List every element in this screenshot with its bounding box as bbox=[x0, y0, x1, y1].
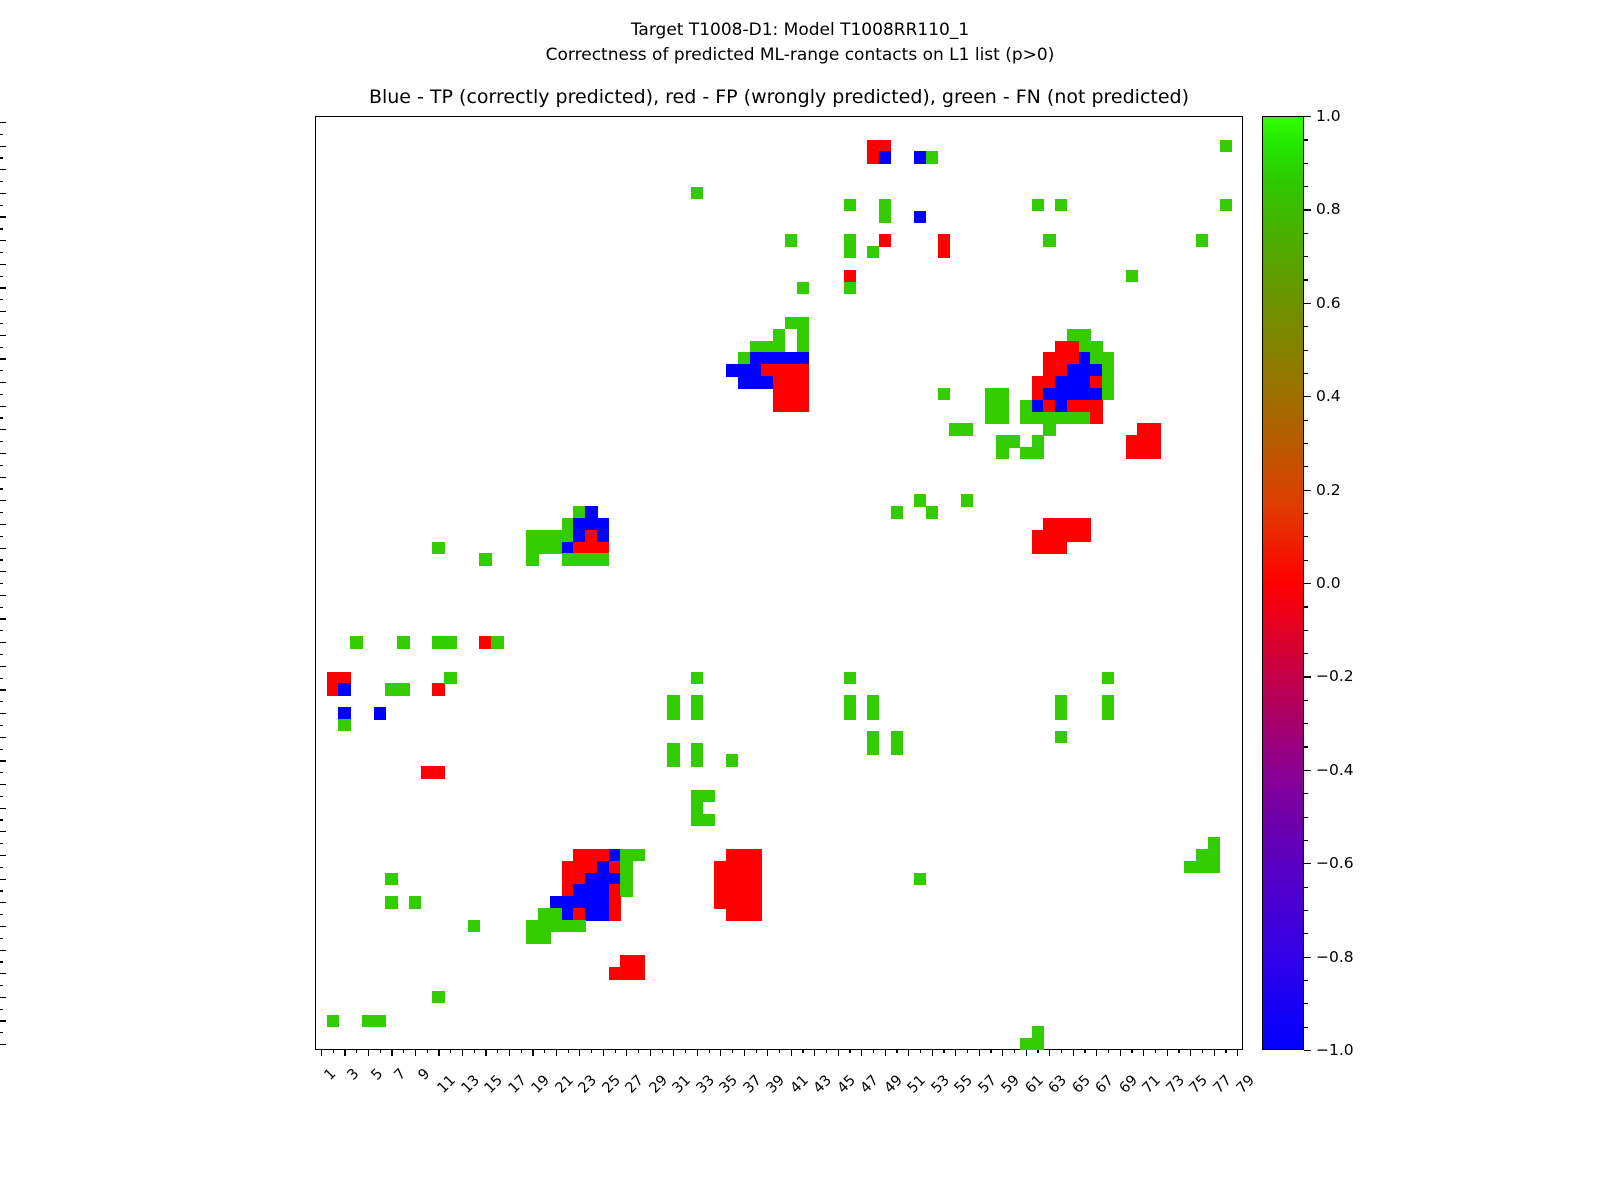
contact-cell bbox=[761, 341, 773, 353]
y-tick-mark bbox=[0, 370, 3, 371]
x-tick-mark bbox=[1049, 1050, 1050, 1056]
contact-cell bbox=[1055, 518, 1067, 530]
y-tick-mark bbox=[0, 583, 3, 584]
colorbar-minor-tick-mark bbox=[1304, 326, 1308, 327]
contact-cell bbox=[703, 814, 715, 826]
contact-cell bbox=[338, 707, 350, 719]
x-tick-label: 63 bbox=[1047, 1073, 1071, 1097]
y-tick-mark bbox=[0, 607, 3, 608]
contact-cell bbox=[1220, 140, 1232, 152]
contact-cell bbox=[573, 896, 585, 908]
x-tick-mark bbox=[1167, 1050, 1168, 1056]
colorbar-minor-tick-mark bbox=[1304, 420, 1308, 421]
contact-cell bbox=[573, 849, 585, 861]
y-tick-mark bbox=[0, 169, 6, 170]
x-tick-label: 33 bbox=[694, 1073, 718, 1097]
y-tick-mark bbox=[0, 713, 6, 714]
contact-cell bbox=[491, 636, 503, 648]
contact-cell bbox=[609, 967, 621, 979]
suptitle-line-1: Target T1008-D1: Model T1008RR110_1 bbox=[631, 20, 969, 40]
x-tick-label: 73 bbox=[1164, 1073, 1188, 1097]
contact-cell bbox=[961, 423, 973, 435]
contact-cell bbox=[609, 861, 621, 873]
contact-cell bbox=[879, 199, 891, 211]
y-tick-mark bbox=[0, 252, 3, 253]
contact-cell bbox=[726, 754, 738, 766]
contact-cell bbox=[891, 731, 903, 743]
colorbar-minor-tick-mark bbox=[1304, 1027, 1308, 1028]
y-tick-mark bbox=[0, 831, 6, 832]
contact-cell bbox=[914, 494, 926, 506]
x-tick-label: 43 bbox=[812, 1073, 836, 1097]
contact-cell bbox=[879, 211, 891, 223]
x-tick-label: 47 bbox=[859, 1073, 883, 1097]
x-tick-mark bbox=[802, 1050, 803, 1053]
contact-cell bbox=[327, 683, 339, 695]
x-tick-mark bbox=[1214, 1050, 1215, 1056]
x-tick-mark bbox=[497, 1050, 498, 1053]
x-tick-mark bbox=[509, 1050, 510, 1056]
contact-cell bbox=[620, 849, 632, 861]
contact-cell bbox=[1067, 530, 1079, 542]
contact-cell bbox=[1067, 518, 1079, 530]
contact-cell bbox=[620, 861, 632, 873]
y-tick-mark bbox=[0, 205, 3, 206]
contact-cell bbox=[432, 991, 444, 1003]
y-tick-mark bbox=[0, 630, 3, 631]
contact-cell bbox=[550, 896, 562, 908]
contact-cell bbox=[1079, 530, 1091, 542]
contact-cell bbox=[714, 896, 726, 908]
contact-cell bbox=[432, 636, 444, 648]
contact-cell bbox=[385, 683, 397, 695]
y-tick-mark bbox=[0, 276, 3, 277]
x-tick-label: 11 bbox=[436, 1073, 460, 1097]
contact-cell bbox=[526, 542, 538, 554]
colorbar-tick-label: −0.4 bbox=[1316, 762, 1354, 778]
x-tick-mark bbox=[885, 1050, 886, 1056]
colorbar-tick-mark bbox=[1304, 583, 1311, 584]
colorbar-minor-tick-mark bbox=[1304, 443, 1308, 444]
contact-cell bbox=[432, 683, 444, 695]
x-tick-mark bbox=[1037, 1050, 1038, 1053]
x-tick-mark bbox=[1202, 1050, 1203, 1053]
contact-cell bbox=[1126, 435, 1138, 447]
contact-cell bbox=[879, 234, 891, 246]
contact-cell bbox=[609, 884, 621, 896]
contact-cell bbox=[1055, 412, 1067, 424]
x-tick-mark bbox=[356, 1050, 357, 1053]
x-tick-mark bbox=[908, 1050, 909, 1056]
x-tick-label: 39 bbox=[765, 1073, 789, 1097]
contact-cell bbox=[785, 376, 797, 388]
contact-cell bbox=[562, 861, 574, 873]
y-tick-mark bbox=[0, 512, 3, 513]
contact-cell bbox=[468, 920, 480, 932]
x-tick-label: 67 bbox=[1094, 1073, 1118, 1097]
contact-cell bbox=[1055, 341, 1067, 353]
x-tick-label: 29 bbox=[647, 1073, 671, 1097]
x-tick-mark bbox=[896, 1050, 897, 1053]
contact-cell bbox=[785, 234, 797, 246]
contact-cell bbox=[1043, 376, 1055, 388]
contact-cell bbox=[1102, 352, 1114, 364]
contact-cell bbox=[785, 317, 797, 329]
x-tick-mark bbox=[638, 1050, 639, 1053]
contact-cell bbox=[844, 246, 856, 258]
contact-cell bbox=[667, 743, 679, 755]
contact-cell bbox=[432, 542, 444, 554]
x-tick-mark bbox=[1131, 1050, 1132, 1053]
contact-cell bbox=[338, 672, 350, 684]
contact-cell bbox=[632, 955, 644, 967]
contact-cell bbox=[573, 542, 585, 554]
contact-cell bbox=[1184, 861, 1196, 873]
x-tick-label: 21 bbox=[553, 1073, 577, 1097]
x-tick-label: 3 bbox=[346, 1067, 363, 1084]
contact-cell bbox=[1079, 352, 1091, 364]
x-tick-label: 59 bbox=[1000, 1073, 1024, 1097]
x-tick-mark bbox=[1002, 1050, 1003, 1056]
y-tick-mark bbox=[0, 926, 6, 927]
contact-cell bbox=[444, 636, 456, 648]
y-tick-mark bbox=[0, 843, 3, 844]
colorbar-minor-tick-mark bbox=[1304, 700, 1308, 701]
contact-cell bbox=[1055, 530, 1067, 542]
contact-cell bbox=[1067, 364, 1079, 376]
contact-cell bbox=[738, 908, 750, 920]
contact-cell bbox=[562, 884, 574, 896]
colorbar-minor-tick-mark bbox=[1304, 350, 1308, 351]
contact-cell bbox=[785, 388, 797, 400]
contact-cell bbox=[738, 364, 750, 376]
colorbar-minor-tick-mark bbox=[1304, 256, 1308, 257]
contact-cell bbox=[691, 695, 703, 707]
contact-cell bbox=[526, 920, 538, 932]
colorbar-minor-tick-mark bbox=[1304, 887, 1308, 888]
contact-cell bbox=[1055, 542, 1067, 554]
x-tick-label: 13 bbox=[459, 1073, 483, 1097]
colorbar-minor-tick-mark bbox=[1304, 933, 1308, 934]
x-tick-mark bbox=[450, 1050, 451, 1053]
y-tick-mark bbox=[0, 488, 3, 489]
contact-cell bbox=[1043, 388, 1055, 400]
contact-cell bbox=[1032, 542, 1044, 554]
contact-cell bbox=[844, 199, 856, 211]
x-tick-mark bbox=[1237, 1050, 1238, 1056]
y-tick-mark bbox=[0, 701, 3, 702]
contact-cell bbox=[926, 151, 938, 163]
contact-cell bbox=[1079, 376, 1091, 388]
contact-cell bbox=[714, 873, 726, 885]
x-tick-mark bbox=[1143, 1050, 1144, 1056]
colorbar-minor-tick-mark bbox=[1304, 139, 1308, 140]
colorbar-minor-tick-mark bbox=[1304, 186, 1308, 187]
contact-cell bbox=[1043, 423, 1055, 435]
contact-cell bbox=[609, 896, 621, 908]
y-tick-mark bbox=[0, 760, 6, 761]
contact-cell bbox=[879, 140, 891, 152]
contact-cell bbox=[1079, 364, 1091, 376]
x-tick-label: 77 bbox=[1211, 1073, 1235, 1097]
contact-cell bbox=[609, 873, 621, 885]
contact-cell bbox=[1043, 518, 1055, 530]
x-tick-mark bbox=[591, 1050, 592, 1053]
contact-cell bbox=[1055, 388, 1067, 400]
x-tick-label: 15 bbox=[483, 1073, 507, 1097]
x-axis: 1357911131517192123252729313335373941434… bbox=[315, 1050, 1245, 1200]
y-tick-mark bbox=[0, 417, 3, 418]
y-tick-mark bbox=[0, 287, 6, 288]
y-tick-mark bbox=[0, 654, 3, 655]
x-tick-mark bbox=[427, 1050, 428, 1053]
contact-cell bbox=[597, 530, 609, 542]
x-tick-mark bbox=[532, 1050, 533, 1056]
colorbar-tick-mark bbox=[1304, 209, 1311, 210]
y-tick-mark bbox=[0, 1044, 6, 1045]
contact-cell bbox=[338, 719, 350, 731]
contact-cell bbox=[585, 896, 597, 908]
contact-cell bbox=[1196, 849, 1208, 861]
colorbar-minor-tick-mark bbox=[1304, 513, 1308, 514]
y-tick-mark bbox=[0, 855, 6, 856]
contact-cell bbox=[891, 506, 903, 518]
contact-cell bbox=[538, 530, 550, 542]
colorbar-minor-tick-mark bbox=[1304, 279, 1308, 280]
y-tick-mark bbox=[0, 1032, 3, 1033]
contact-cell bbox=[573, 884, 585, 896]
x-tick-label: 75 bbox=[1187, 1073, 1211, 1097]
contact-cell bbox=[691, 187, 703, 199]
contact-cell bbox=[914, 873, 926, 885]
contact-cell bbox=[562, 908, 574, 920]
contact-cell bbox=[996, 447, 1008, 459]
contact-cell bbox=[785, 352, 797, 364]
colorbar-minor-tick-mark bbox=[1304, 560, 1308, 561]
contact-cell bbox=[1043, 352, 1055, 364]
contact-cell bbox=[562, 896, 574, 908]
contact-cell bbox=[1043, 234, 1055, 246]
y-tick-mark bbox=[0, 796, 3, 797]
y-tick-mark bbox=[0, 879, 6, 880]
contact-cell bbox=[1208, 837, 1220, 849]
x-tick-mark bbox=[391, 1050, 392, 1056]
contact-cell bbox=[1043, 400, 1055, 412]
contact-cell bbox=[609, 849, 621, 861]
x-tick-label: 7 bbox=[393, 1067, 410, 1084]
contact-cell bbox=[867, 731, 879, 743]
x-tick-mark bbox=[932, 1050, 933, 1056]
y-tick-mark bbox=[0, 382, 6, 383]
x-tick-mark bbox=[673, 1050, 674, 1056]
y-tick-mark bbox=[0, 146, 6, 147]
x-tick-mark bbox=[732, 1050, 733, 1053]
contact-cell bbox=[585, 506, 597, 518]
y-tick-mark bbox=[0, 228, 3, 229]
x-tick-mark bbox=[403, 1050, 404, 1053]
x-tick-label: 53 bbox=[929, 1073, 953, 1097]
x-tick-mark bbox=[873, 1050, 874, 1053]
y-tick-mark bbox=[0, 666, 6, 667]
x-tick-mark bbox=[380, 1050, 381, 1053]
contact-cell bbox=[1149, 435, 1161, 447]
contact-cell bbox=[844, 282, 856, 294]
contact-cell bbox=[1079, 518, 1091, 530]
contact-cell bbox=[1149, 423, 1161, 435]
x-tick-label: 35 bbox=[718, 1073, 742, 1097]
contact-cell bbox=[538, 908, 550, 920]
contact-cell bbox=[1020, 1038, 1032, 1050]
contact-cell bbox=[691, 743, 703, 755]
contact-cell bbox=[1196, 234, 1208, 246]
x-tick-mark bbox=[967, 1050, 968, 1053]
contact-cell bbox=[573, 861, 585, 873]
contact-cell bbox=[632, 849, 644, 861]
colorbar-tick-label: −1.0 bbox=[1316, 1042, 1354, 1058]
x-tick-mark bbox=[368, 1050, 369, 1056]
contact-cell bbox=[996, 435, 1008, 447]
contact-cell bbox=[620, 955, 632, 967]
colorbar-tick-mark bbox=[1304, 396, 1311, 397]
x-tick-label: 31 bbox=[671, 1073, 695, 1097]
contact-cell bbox=[620, 873, 632, 885]
contact-cell bbox=[1043, 530, 1055, 542]
contact-cell bbox=[597, 518, 609, 530]
contact-cell bbox=[844, 234, 856, 246]
x-tick-mark bbox=[861, 1050, 862, 1056]
x-tick-mark bbox=[744, 1050, 745, 1056]
contact-cell bbox=[585, 861, 597, 873]
colorbar-tick-label: 0.4 bbox=[1316, 388, 1341, 404]
x-tick-label: 79 bbox=[1234, 1073, 1258, 1097]
contact-cell bbox=[1102, 707, 1114, 719]
y-tick-mark bbox=[0, 524, 6, 525]
contact-cell bbox=[526, 530, 538, 542]
contact-cell bbox=[867, 743, 879, 755]
y-tick-mark bbox=[0, 749, 3, 750]
x-tick-mark bbox=[1225, 1050, 1226, 1053]
contact-cell bbox=[797, 400, 809, 412]
colorbar-tick-mark bbox=[1304, 1050, 1311, 1051]
y-tick-mark bbox=[0, 441, 3, 442]
contact-cell bbox=[1055, 695, 1067, 707]
contact-cell bbox=[691, 672, 703, 684]
contact-cell bbox=[1090, 341, 1102, 353]
contact-cell bbox=[738, 352, 750, 364]
colorbar-tick-mark bbox=[1304, 957, 1311, 958]
contact-cell bbox=[550, 920, 562, 932]
x-tick-mark bbox=[1096, 1050, 1097, 1056]
y-tick-mark bbox=[0, 134, 3, 135]
contact-cell bbox=[961, 494, 973, 506]
contact-cell bbox=[562, 553, 574, 565]
x-tick-mark bbox=[662, 1050, 663, 1053]
x-tick-label: 49 bbox=[882, 1073, 906, 1097]
y-tick-mark bbox=[0, 571, 6, 572]
contact-cell bbox=[1032, 376, 1044, 388]
contact-cell bbox=[738, 873, 750, 885]
contact-cell bbox=[562, 873, 574, 885]
y-tick-mark bbox=[0, 902, 6, 903]
y-tick-mark bbox=[0, 1020, 6, 1021]
contact-cell bbox=[750, 873, 762, 885]
contact-cell bbox=[1090, 352, 1102, 364]
contact-cell bbox=[585, 518, 597, 530]
x-tick-label: 9 bbox=[416, 1067, 433, 1084]
contact-cell bbox=[1020, 412, 1032, 424]
y-tick-mark bbox=[0, 181, 3, 182]
y-tick-mark bbox=[0, 595, 6, 596]
contact-cell bbox=[1067, 341, 1079, 353]
x-tick-mark bbox=[1061, 1050, 1062, 1053]
colorbar-minor-tick-mark bbox=[1304, 1003, 1308, 1004]
contact-cell bbox=[949, 423, 961, 435]
contact-cell bbox=[773, 329, 785, 341]
contact-cell bbox=[938, 388, 950, 400]
contact-cell bbox=[1102, 364, 1114, 376]
contact-cell bbox=[1126, 447, 1138, 459]
colorbar-tick-mark bbox=[1304, 770, 1311, 771]
x-tick-mark bbox=[826, 1050, 827, 1053]
contact-cell bbox=[691, 754, 703, 766]
y-tick-mark bbox=[0, 961, 3, 962]
contact-cell bbox=[773, 352, 785, 364]
contact-cell bbox=[562, 518, 574, 530]
y-tick-mark bbox=[0, 559, 3, 560]
x-tick-label: 55 bbox=[953, 1073, 977, 1097]
contact-cell bbox=[914, 211, 926, 223]
contact-cell bbox=[867, 246, 879, 258]
contact-cell bbox=[797, 341, 809, 353]
colorbar-minor-tick-mark bbox=[1304, 466, 1308, 467]
contact-cell bbox=[1079, 388, 1091, 400]
contact-cell bbox=[761, 376, 773, 388]
contact-cell bbox=[1079, 412, 1091, 424]
contact-cell bbox=[1043, 364, 1055, 376]
contact-cell bbox=[1043, 412, 1055, 424]
contact-cell bbox=[797, 388, 809, 400]
y-tick-mark bbox=[0, 465, 3, 466]
x-tick-mark bbox=[979, 1050, 980, 1056]
y-tick-mark bbox=[0, 725, 3, 726]
contact-cell bbox=[362, 1015, 374, 1027]
y-tick-mark bbox=[0, 358, 6, 359]
contact-cell bbox=[1055, 199, 1067, 211]
contact-cell bbox=[726, 364, 738, 376]
contact-cell bbox=[1102, 672, 1114, 684]
contact-cell bbox=[1220, 199, 1232, 211]
contact-cell bbox=[1067, 376, 1079, 388]
contact-cell bbox=[585, 530, 597, 542]
contact-cell bbox=[797, 364, 809, 376]
contact-cell bbox=[397, 636, 409, 648]
contact-map-plot[interactable] bbox=[315, 116, 1243, 1050]
y-tick-mark bbox=[0, 914, 3, 915]
contact-cell bbox=[609, 908, 621, 920]
contact-cell bbox=[750, 896, 762, 908]
contact-cell bbox=[1008, 435, 1020, 447]
contact-cell bbox=[585, 542, 597, 554]
contact-cell bbox=[1020, 447, 1032, 459]
x-tick-mark bbox=[615, 1050, 616, 1053]
contact-cell bbox=[1102, 695, 1114, 707]
contact-cell bbox=[750, 884, 762, 896]
y-tick-mark bbox=[0, 973, 6, 974]
contact-cell bbox=[1032, 412, 1044, 424]
contact-cell bbox=[1055, 707, 1067, 719]
contact-cell bbox=[585, 553, 597, 565]
y-tick-mark bbox=[0, 938, 3, 939]
